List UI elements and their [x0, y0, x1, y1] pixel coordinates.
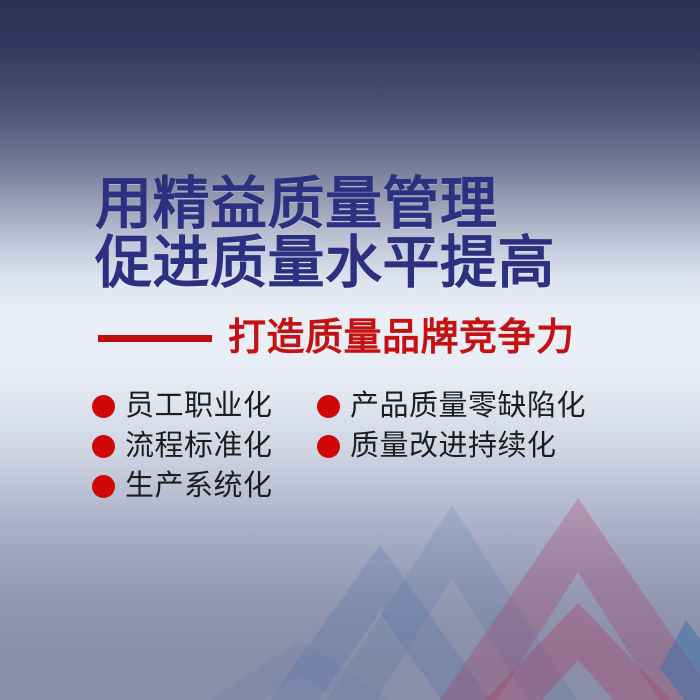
bullet-label: 产品质量零缺陷化	[350, 390, 586, 422]
bullet-dot-icon	[317, 435, 340, 458]
bullet-dot-icon	[317, 395, 340, 418]
bullet-label: 质量改进持续化	[350, 430, 557, 462]
bullet-column-left: 员工职业化 流程标准化 生产系统化	[92, 386, 317, 506]
headline: 用精益质量管理 促进质量水平提高	[95, 176, 655, 294]
list-item: 生产系统化	[92, 466, 317, 506]
subtitle-text: 打造质量品牌竞争力	[228, 318, 575, 358]
headline-line-2: 促进质量水平提高	[95, 235, 655, 292]
bullet-column-right: 产品质量零缺陷化 质量改进持续化	[317, 386, 637, 466]
list-item: 质量改进持续化	[317, 426, 637, 466]
list-item: 产品质量零缺陷化	[317, 386, 637, 426]
bullet-label: 生产系统化	[125, 470, 273, 502]
chevron-blue-mid	[314, 505, 590, 700]
subtitle: 打造质量品牌竞争力	[98, 318, 575, 358]
list-item: 员工职业化	[92, 386, 317, 426]
chevron-blue-left	[255, 545, 505, 700]
chevron-red-large	[426, 498, 700, 700]
chevron-red-small	[466, 603, 690, 700]
poster-canvas: 用精益质量管理 促进质量水平提高 打造质量品牌竞争力 员工职业化 流程标准化 生…	[0, 0, 700, 700]
bullet-dot-icon	[92, 475, 115, 498]
headline-line-1: 用精益质量管理	[95, 176, 655, 233]
chevron-blue-edge	[660, 620, 700, 700]
bullet-dot-icon	[92, 395, 115, 418]
bullet-dot-icon	[92, 435, 115, 458]
list-item: 流程标准化	[92, 426, 317, 466]
subtitle-rule	[98, 335, 212, 342]
bullet-lists: 员工职业化 流程标准化 生产系统化 产品质量零缺陷化 质量改进持续化	[92, 386, 637, 506]
bullet-label: 员工职业化	[125, 390, 273, 422]
bullet-label: 流程标准化	[125, 430, 273, 462]
chevron-blue-far-left	[180, 640, 420, 700]
